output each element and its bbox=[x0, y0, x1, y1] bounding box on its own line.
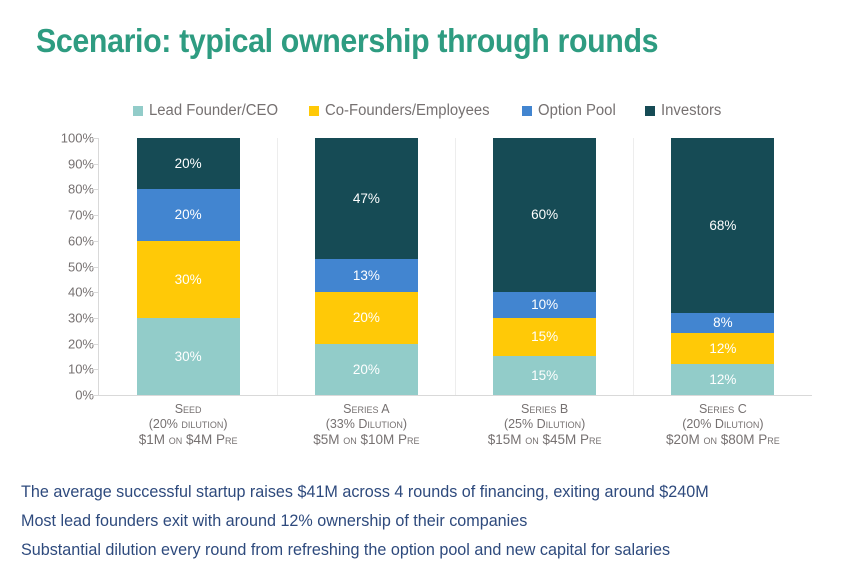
y-tick-label: 100% bbox=[61, 131, 94, 146]
chart-legend: Lead Founder/CEO Co-Founders/Employees O… bbox=[0, 102, 857, 120]
legend-item-option-pool[interactable]: Option Pool bbox=[522, 102, 619, 120]
y-axis-tick-mark bbox=[92, 344, 98, 345]
y-axis-tick-mark bbox=[92, 292, 98, 293]
stacked-bar-chart: 100% 90% 80% 70% 60% 50% 40% 30% 20% 10%… bbox=[0, 130, 857, 460]
y-axis-tick-mark bbox=[92, 164, 98, 165]
x-label-round-name: Series A bbox=[277, 402, 455, 417]
legend-swatch-lead-founder-ceo bbox=[133, 106, 143, 116]
stacked-bar-seed[interactable]: 20% 20% 30% 30% bbox=[137, 138, 240, 395]
legend-label-investors: Investors bbox=[661, 102, 721, 120]
stacked-bar-series-a[interactable]: 47% 13% 20% 20% bbox=[315, 138, 418, 395]
y-axis-tick-mark bbox=[92, 369, 98, 370]
x-label-dilution: (20% dilution) bbox=[99, 417, 277, 432]
x-axis-label-series-a: Series A (33% Dilution) $5M on $10M Pre bbox=[277, 402, 455, 447]
bar-segment-investors[interactable]: 68% bbox=[671, 138, 774, 313]
x-axis-line bbox=[98, 395, 812, 396]
bar-segment-lead-founder-ceo[interactable]: 12% bbox=[671, 364, 774, 395]
y-tick-label: 90% bbox=[68, 156, 94, 171]
bar-column-series-a: 47% 13% 20% 20% bbox=[277, 138, 455, 395]
y-axis-tick-mark bbox=[92, 215, 98, 216]
bar-segment-investors[interactable]: 60% bbox=[493, 138, 596, 292]
takeaways-list: The average successful startup raises $4… bbox=[21, 477, 841, 564]
x-label-dilution: (20% Dilution) bbox=[634, 417, 812, 432]
x-label-terms: $15M on $45M Pre bbox=[456, 432, 634, 447]
x-axis-label-seed: Seed (20% dilution) $1M on $4M Pre bbox=[99, 402, 277, 447]
x-axis-label-series-c: Series C (20% Dilution) $20M on $80M Pre bbox=[634, 402, 812, 447]
x-label-round-name: Series C bbox=[634, 402, 812, 417]
y-axis: 100% 90% 80% 70% 60% 50% 40% 30% 20% 10%… bbox=[38, 130, 94, 395]
y-tick-label: 80% bbox=[68, 182, 94, 197]
bar-column-seed: 20% 20% 30% 30% bbox=[99, 138, 277, 395]
legend-label-co-founders-employees: Co-Founders/Employees bbox=[325, 102, 490, 120]
bar-segment-lead-founder-ceo[interactable]: 20% bbox=[315, 344, 418, 395]
legend-item-investors[interactable]: Investors bbox=[645, 102, 724, 120]
bar-column-series-c: 68% 8% 12% 12% bbox=[634, 138, 812, 395]
bar-segment-co-founders-employees[interactable]: 20% bbox=[315, 292, 418, 343]
y-axis-tick-mark bbox=[92, 267, 98, 268]
bar-segment-investors[interactable]: 47% bbox=[315, 138, 418, 259]
x-label-round-name: Seed bbox=[99, 402, 277, 417]
legend-item-lead-founder-ceo[interactable]: Lead Founder/CEO bbox=[133, 102, 283, 120]
bar-segment-co-founders-employees[interactable]: 30% bbox=[137, 241, 240, 318]
bar-segment-co-founders-employees[interactable]: 12% bbox=[671, 333, 774, 364]
legend-label-option-pool: Option Pool bbox=[538, 102, 616, 120]
plot-area: 20% 20% 30% 30% 47% 13% 20% 20% 60% 10% … bbox=[99, 138, 812, 395]
x-label-round-name: Series B bbox=[456, 402, 634, 417]
list-item: The average successful startup raises $4… bbox=[21, 477, 800, 506]
bar-segment-option-pool[interactable]: 13% bbox=[315, 259, 418, 292]
legend-label-lead-founder-ceo: Lead Founder/CEO bbox=[149, 102, 278, 120]
bar-segment-option-pool[interactable]: 8% bbox=[671, 313, 774, 334]
bar-segment-co-founders-employees[interactable]: 15% bbox=[493, 318, 596, 357]
list-item: Most lead founders exit with around 12% … bbox=[21, 506, 800, 535]
x-label-terms: $1M on $4M Pre bbox=[99, 432, 277, 447]
y-tick-label: 10% bbox=[68, 362, 94, 377]
y-tick-label: 60% bbox=[68, 233, 94, 248]
x-axis-label-series-b: Series B (25% Dilution) $15M on $45M Pre bbox=[456, 402, 634, 447]
y-tick-label: 20% bbox=[68, 336, 94, 351]
x-label-dilution: (25% Dilution) bbox=[456, 417, 634, 432]
bar-segment-investors[interactable]: 20% bbox=[137, 138, 240, 189]
legend-swatch-co-founders-employees bbox=[309, 106, 319, 116]
y-axis-tick-mark bbox=[92, 189, 98, 190]
y-axis-tick-mark bbox=[92, 241, 98, 242]
y-axis-tick-mark bbox=[92, 138, 98, 139]
x-label-terms: $20M on $80M Pre bbox=[634, 432, 812, 447]
page-title: Scenario: typical ownership through roun… bbox=[36, 22, 658, 60]
y-tick-label: 40% bbox=[68, 285, 94, 300]
bar-segment-option-pool[interactable]: 10% bbox=[493, 292, 596, 318]
y-tick-label: 70% bbox=[68, 208, 94, 223]
x-axis-labels: Seed (20% dilution) $1M on $4M Pre Serie… bbox=[99, 402, 812, 447]
bar-column-series-b: 60% 10% 15% 15% bbox=[456, 138, 634, 395]
y-tick-label: 30% bbox=[68, 310, 94, 325]
x-label-dilution: (33% Dilution) bbox=[277, 417, 455, 432]
stacked-bar-series-c[interactable]: 68% 8% 12% 12% bbox=[671, 138, 774, 395]
y-tick-label: 50% bbox=[68, 259, 94, 274]
stacked-bar-series-b[interactable]: 60% 10% 15% 15% bbox=[493, 138, 596, 395]
bar-segment-option-pool[interactable]: 20% bbox=[137, 189, 240, 240]
legend-swatch-option-pool bbox=[522, 106, 532, 116]
legend-swatch-investors bbox=[645, 106, 655, 116]
bar-segment-lead-founder-ceo[interactable]: 15% bbox=[493, 356, 596, 395]
bar-segment-lead-founder-ceo[interactable]: 30% bbox=[137, 318, 240, 395]
list-item: Substantial dilution every round from re… bbox=[21, 535, 800, 564]
y-axis-tick-mark bbox=[92, 318, 98, 319]
legend-item-co-founders-employees[interactable]: Co-Founders/Employees bbox=[309, 102, 496, 120]
x-label-terms: $5M on $10M Pre bbox=[277, 432, 455, 447]
